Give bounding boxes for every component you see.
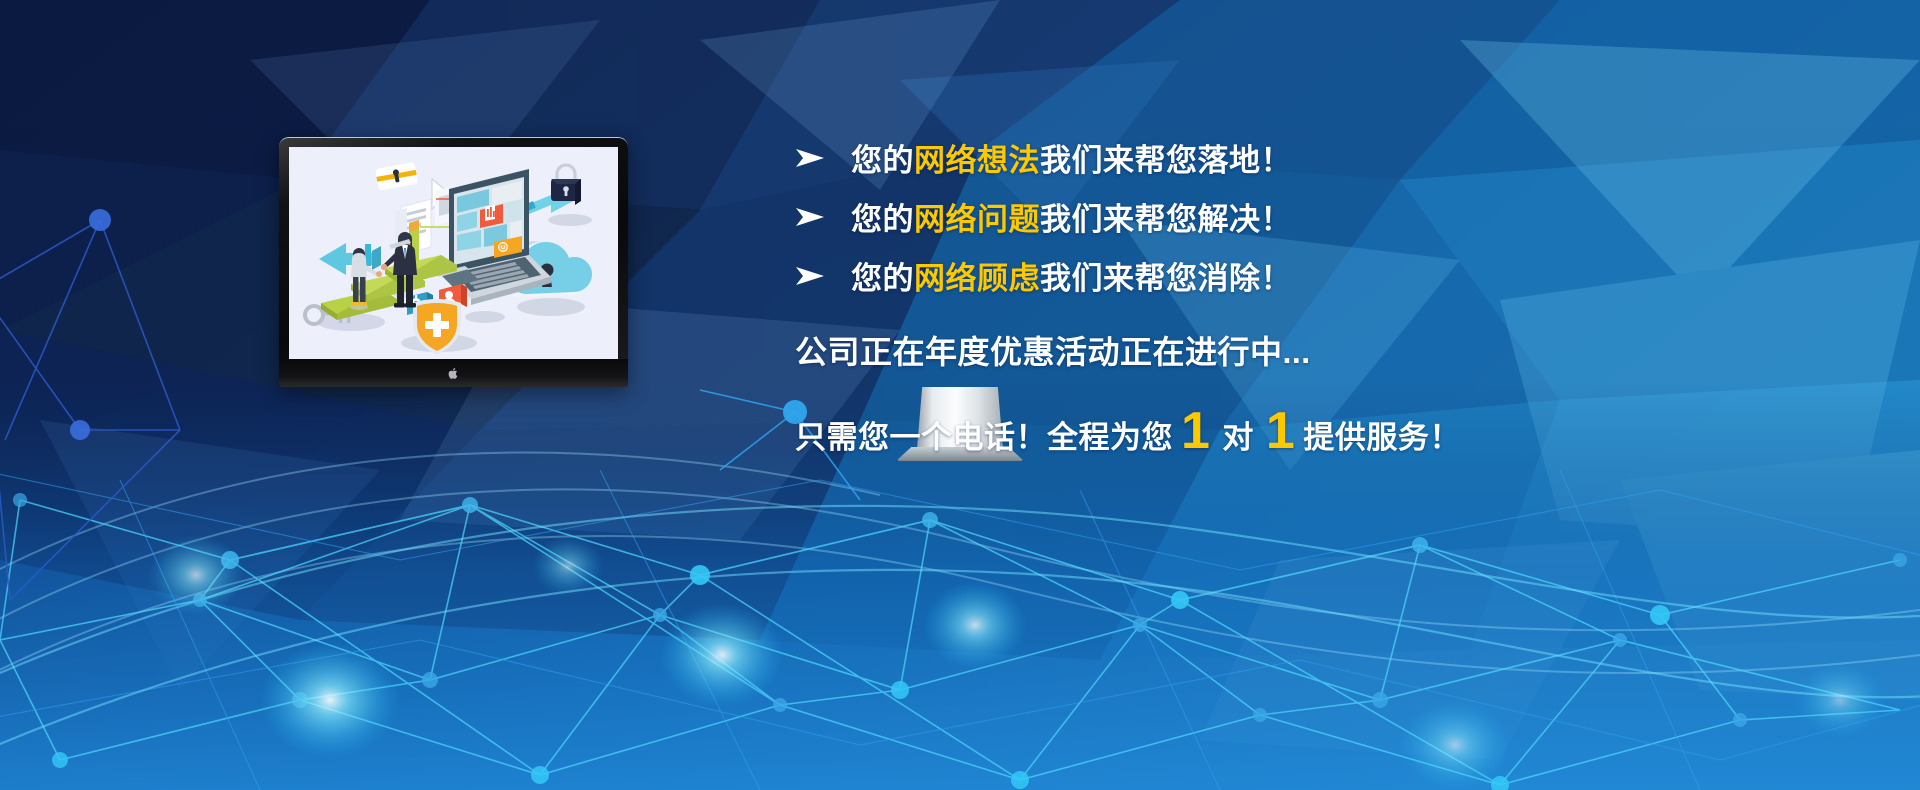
bullet-item-1: 您的网络想法我们来帮您落地！ bbox=[795, 128, 1615, 187]
bullet-1-prefix: 您的 bbox=[851, 143, 914, 178]
bullet-1-highlight: 网络想法 bbox=[914, 143, 1040, 178]
arrow-right-icon bbox=[795, 147, 825, 169]
cta-number-one-first: 1 bbox=[1181, 405, 1210, 457]
bullet-3-suffix: 我们来帮您消除！ bbox=[1040, 261, 1292, 296]
monitor-chin bbox=[279, 359, 628, 387]
bullet-3-highlight: 网络顾虑 bbox=[914, 261, 1040, 296]
arrow-right-icon bbox=[795, 206, 825, 228]
monitor-screen bbox=[289, 147, 618, 359]
cta-middle: 对 bbox=[1222, 412, 1254, 457]
bullet-text-2: 您的网络问题我们来帮您解决！ bbox=[851, 194, 1292, 239]
apple-logo-icon bbox=[448, 367, 459, 380]
isometric-network-security-illustration bbox=[289, 147, 618, 359]
banner-copy: 您的网络想法我们来帮您落地！ 您的网络问题我们来帮您解决！ 您的网络顾虑我们来帮… bbox=[795, 128, 1615, 457]
bullet-text-1: 您的网络想法我们来帮您落地！ bbox=[851, 135, 1292, 180]
bullet-3-prefix: 您的 bbox=[851, 261, 914, 296]
cta-number-one-second: 1 bbox=[1266, 405, 1295, 457]
bullet-item-3: 您的网络顾虑我们来帮您消除！ bbox=[795, 246, 1615, 305]
cta-line: 只需您一个电话！全程为您 1 对 1 提供服务！ bbox=[795, 405, 1615, 457]
bullet-item-2: 您的网络问题我们来帮您解决！ bbox=[795, 187, 1615, 246]
bullet-2-suffix: 我们来帮您解决！ bbox=[1040, 202, 1292, 237]
cta-tail: 提供服务！ bbox=[1303, 412, 1461, 457]
promo-banner: 您的网络想法我们来帮您落地！ 您的网络问题我们来帮您解决！ 您的网络顾虑我们来帮… bbox=[0, 0, 1920, 790]
bullet-2-prefix: 您的 bbox=[851, 202, 914, 237]
bullet-2-highlight: 网络问题 bbox=[914, 202, 1040, 237]
bullet-1-suffix: 我们来帮您落地！ bbox=[1040, 143, 1292, 178]
cta-lead: 只需您一个电话！全程为您 bbox=[795, 412, 1173, 457]
monitor-illustration bbox=[279, 137, 628, 387]
bullet-text-3: 您的网络顾虑我们来帮您消除！ bbox=[851, 253, 1292, 298]
promo-text: 公司正在年度优惠活动正在进行中... bbox=[795, 327, 1615, 373]
arrow-right-icon bbox=[795, 265, 825, 287]
